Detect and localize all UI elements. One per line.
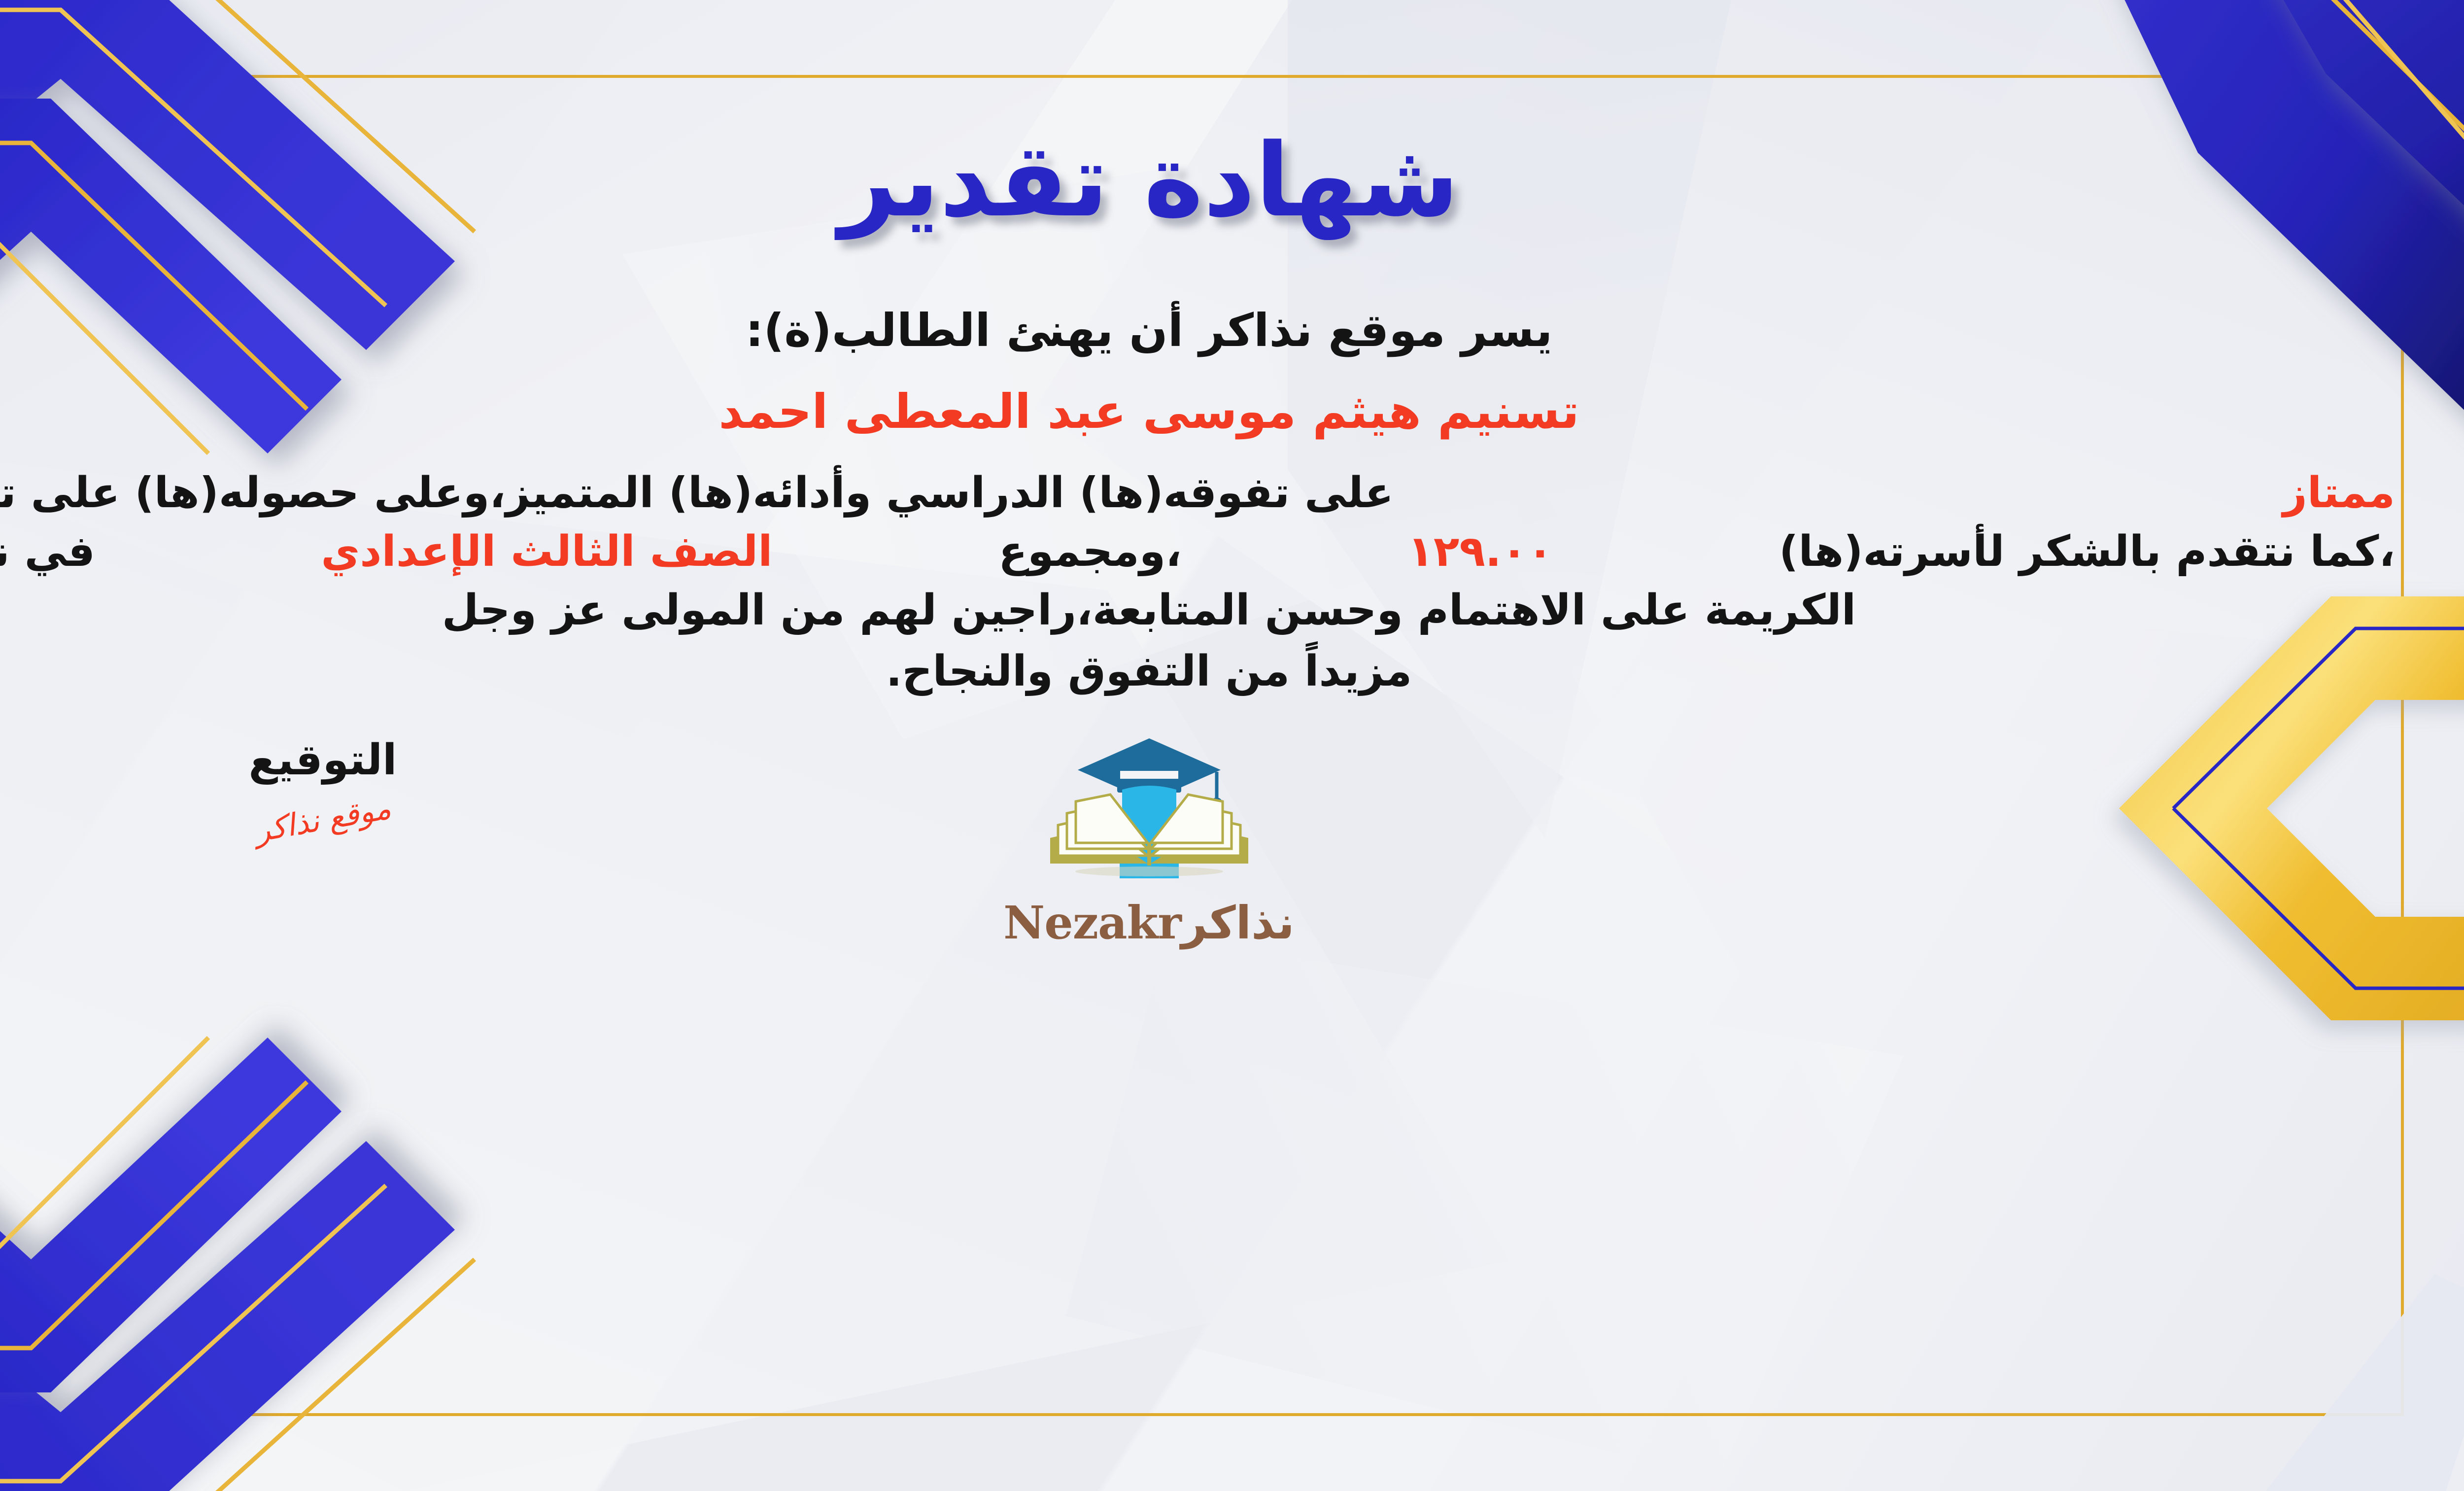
result-label: في نتيجة [0,522,95,581]
graduate-book-icon [1043,731,1255,899]
signature-label: التوقيع [195,735,451,785]
brand-name-latin: Nezakr [1003,896,1181,949]
certificate-footer: التوقيع موقع نذاكر [0,731,2404,988]
intro-line: يسر موقع نذاكر أن يهنئ الطالب(ة): [0,300,2404,362]
total-score-value: ١٢٩.٠٠ [1407,522,1553,581]
family-thanks-text: ،كما نتقدم بالشكر لأسرته(ها) [1779,522,2395,581]
brand-logo: Nezakrنذاكر [967,731,1332,949]
total-label: ،ومجموع [998,522,1182,581]
signature-block: التوقيع موقع نذاكر [195,735,451,837]
certificate-page: شهادة تقدير يسر موقع نذاكر أن يهنئ الطال… [0,0,2464,1491]
grade-level-value: الصف الثالث الإعدادي [321,522,772,581]
achievement-line: ممتاز على تفوقه(ها) الدراسي وأدائه(ها) ا… [0,464,2404,522]
brand-name: Nezakrنذاكر [1003,896,1295,949]
certificate-content: شهادة تقدير يسر موقع نذاكر أن يهنئ الطال… [0,75,2404,1416]
achievement-text: على تفوقه(ها) الدراسي وأدائه(ها) المتميز… [0,464,1394,522]
certificate-body: يسر موقع نذاكر أن يهنئ الطالب(ة): تسنيم … [0,300,2404,704]
gratitude-line: الكريمة على الاهتمام وحسن المتابعة،راجين… [0,581,2404,640]
brand-name-arabic: نذاكر [1181,897,1295,949]
result-line: ،كما نتقدم بالشكر لأسرته(ها) ١٢٩.٠٠ ،ومج… [0,522,2404,581]
closing-line: مزيداً من التفوق والنجاح. [0,642,2404,701]
page-title: شهادة تقدير [839,131,1459,232]
rating-value: ممتاز [2283,464,2395,522]
certificate-title: شهادة تقدير [0,104,2404,257]
signature-script: موقع نذاكر [194,780,452,860]
student-name: تسنيم هيثم موسى عبد المعطى احمد [0,379,2404,444]
